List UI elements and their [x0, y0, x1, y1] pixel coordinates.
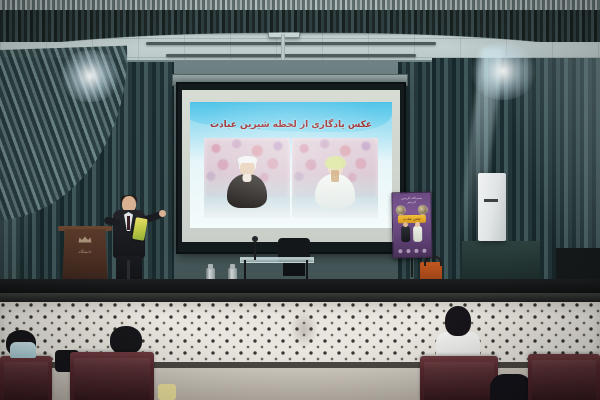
- girl-body: [315, 174, 355, 208]
- ceiling-valance-curtain: [0, 0, 600, 42]
- audience-seat: [70, 352, 154, 400]
- audience-item: [158, 384, 176, 400]
- boy-figure: [227, 160, 267, 208]
- crown-emblem-icon: [78, 236, 93, 243]
- poster-logo-dot: [406, 249, 410, 253]
- presenter-tie: [127, 216, 130, 230]
- stage-dark-box: [556, 248, 600, 282]
- stage-platform-right: [462, 241, 540, 279]
- girl-praying-photo: [292, 138, 378, 218]
- audience-head: [445, 306, 471, 336]
- slide-photo-row: [204, 138, 378, 218]
- audience-figure-dark: [490, 374, 532, 400]
- poster-figure-boy: [401, 226, 410, 242]
- boy-praying-photo: [204, 138, 290, 218]
- poster-logo-dot: [422, 249, 426, 253]
- audience-light-item: [10, 342, 36, 358]
- presentation-slide: عکس یادگاری از لحظه شیرین عبادت: [190, 102, 392, 228]
- audience-seat: [0, 356, 52, 400]
- presenter: [104, 196, 162, 288]
- boy-body: [227, 174, 267, 208]
- wall-stain: [290, 310, 318, 348]
- event-poster: بسم الله الرحمن الرحیم جشن عبادت: [391, 192, 432, 259]
- poster-title: جشن عبادت: [398, 215, 426, 223]
- glass-table: [240, 257, 314, 263]
- girl-figure: [315, 160, 355, 208]
- auditorium-photo: عکس یادگاری از لحظه شیرین عبادت: [0, 0, 600, 400]
- presenter-right-hand: [159, 210, 166, 217]
- cabinet-vent-slot: [484, 199, 498, 202]
- ceiling-rail: [166, 54, 416, 57]
- audience-seat: [420, 356, 498, 400]
- poster-footer-logos: [396, 248, 428, 255]
- microphone-stand: [254, 240, 256, 260]
- ceiling-rail: [146, 42, 436, 45]
- poster-badge-right: [418, 205, 428, 215]
- audience-seat: [528, 354, 600, 400]
- poster-badge-left: [396, 205, 406, 215]
- white-cabinet-unit: [478, 173, 506, 241]
- poster-stand: [411, 255, 413, 277]
- poster-logo-dot: [414, 249, 418, 253]
- podium-label: دانشگاه: [68, 249, 102, 255]
- poster-figure-girl: [413, 226, 422, 242]
- held-card: [132, 217, 148, 241]
- projection-screen: عکس یادگاری از لحظه شیرین عبادت: [176, 82, 406, 254]
- podium: دانشگاه: [62, 229, 108, 285]
- slide-title: عکس یادگاری از لحظه شیرین عبادت: [190, 120, 392, 130]
- audience-head: [110, 326, 142, 354]
- poster-logo-dot: [398, 249, 402, 253]
- screen-surface: عکس یادگاری از لحظه شیرین عبادت: [182, 90, 400, 242]
